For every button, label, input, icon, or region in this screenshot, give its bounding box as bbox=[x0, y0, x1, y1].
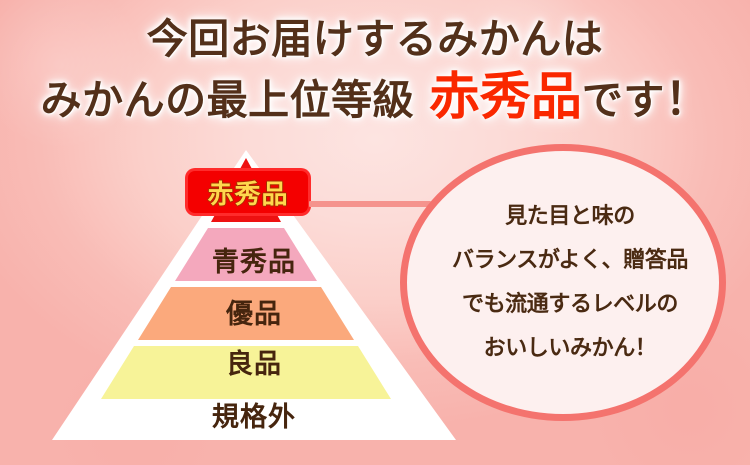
speech-bubble-line-2: バランスがよく、贈答品 bbox=[407, 239, 733, 283]
headline-line-2: みかんの最上位等級 赤秀品です！ bbox=[0, 74, 750, 123]
promo-banner: 今回お届けするみかんは みかんの最上位等級 赤秀品です！ 青秀品 優品 良品 規… bbox=[0, 0, 750, 465]
akashuhin-badge-label: 赤秀品 bbox=[207, 174, 288, 211]
headline-suffix: です bbox=[582, 76, 665, 124]
speech-bubble-line-1: 見た目と味の bbox=[407, 195, 733, 239]
headline-prefix: みかんの最上位等級 bbox=[41, 76, 429, 124]
pyramid-label-kikakugai: 規格外 bbox=[52, 395, 456, 434]
speech-bubble-line-4: おいしいみかん！ bbox=[407, 327, 733, 371]
description-speech-bubble: 見た目と味の バランスがよく、贈答品 でも流通するレベルの おいしいみかん！ bbox=[400, 144, 726, 421]
pyramid-label-yuhin: 優品 bbox=[52, 292, 456, 331]
speech-bubble-text: 見た目と味の バランスがよく、贈答品 でも流通するレベルの おいしいみかん！ bbox=[407, 195, 733, 371]
headline-exclamation: ！ bbox=[665, 74, 710, 125]
pyramid-label-seishuhin: 青秀品 bbox=[52, 240, 456, 279]
pyramid-label-ryohin: 良品 bbox=[52, 342, 456, 381]
headline-line-1: 今回お届けするみかんは bbox=[0, 16, 750, 62]
headline-highlight-akashuhin: 赤秀品 bbox=[429, 67, 582, 127]
akashuhin-badge: 赤秀品 bbox=[188, 171, 308, 213]
speech-bubble-line-3: でも流通するレベルの bbox=[407, 283, 733, 327]
